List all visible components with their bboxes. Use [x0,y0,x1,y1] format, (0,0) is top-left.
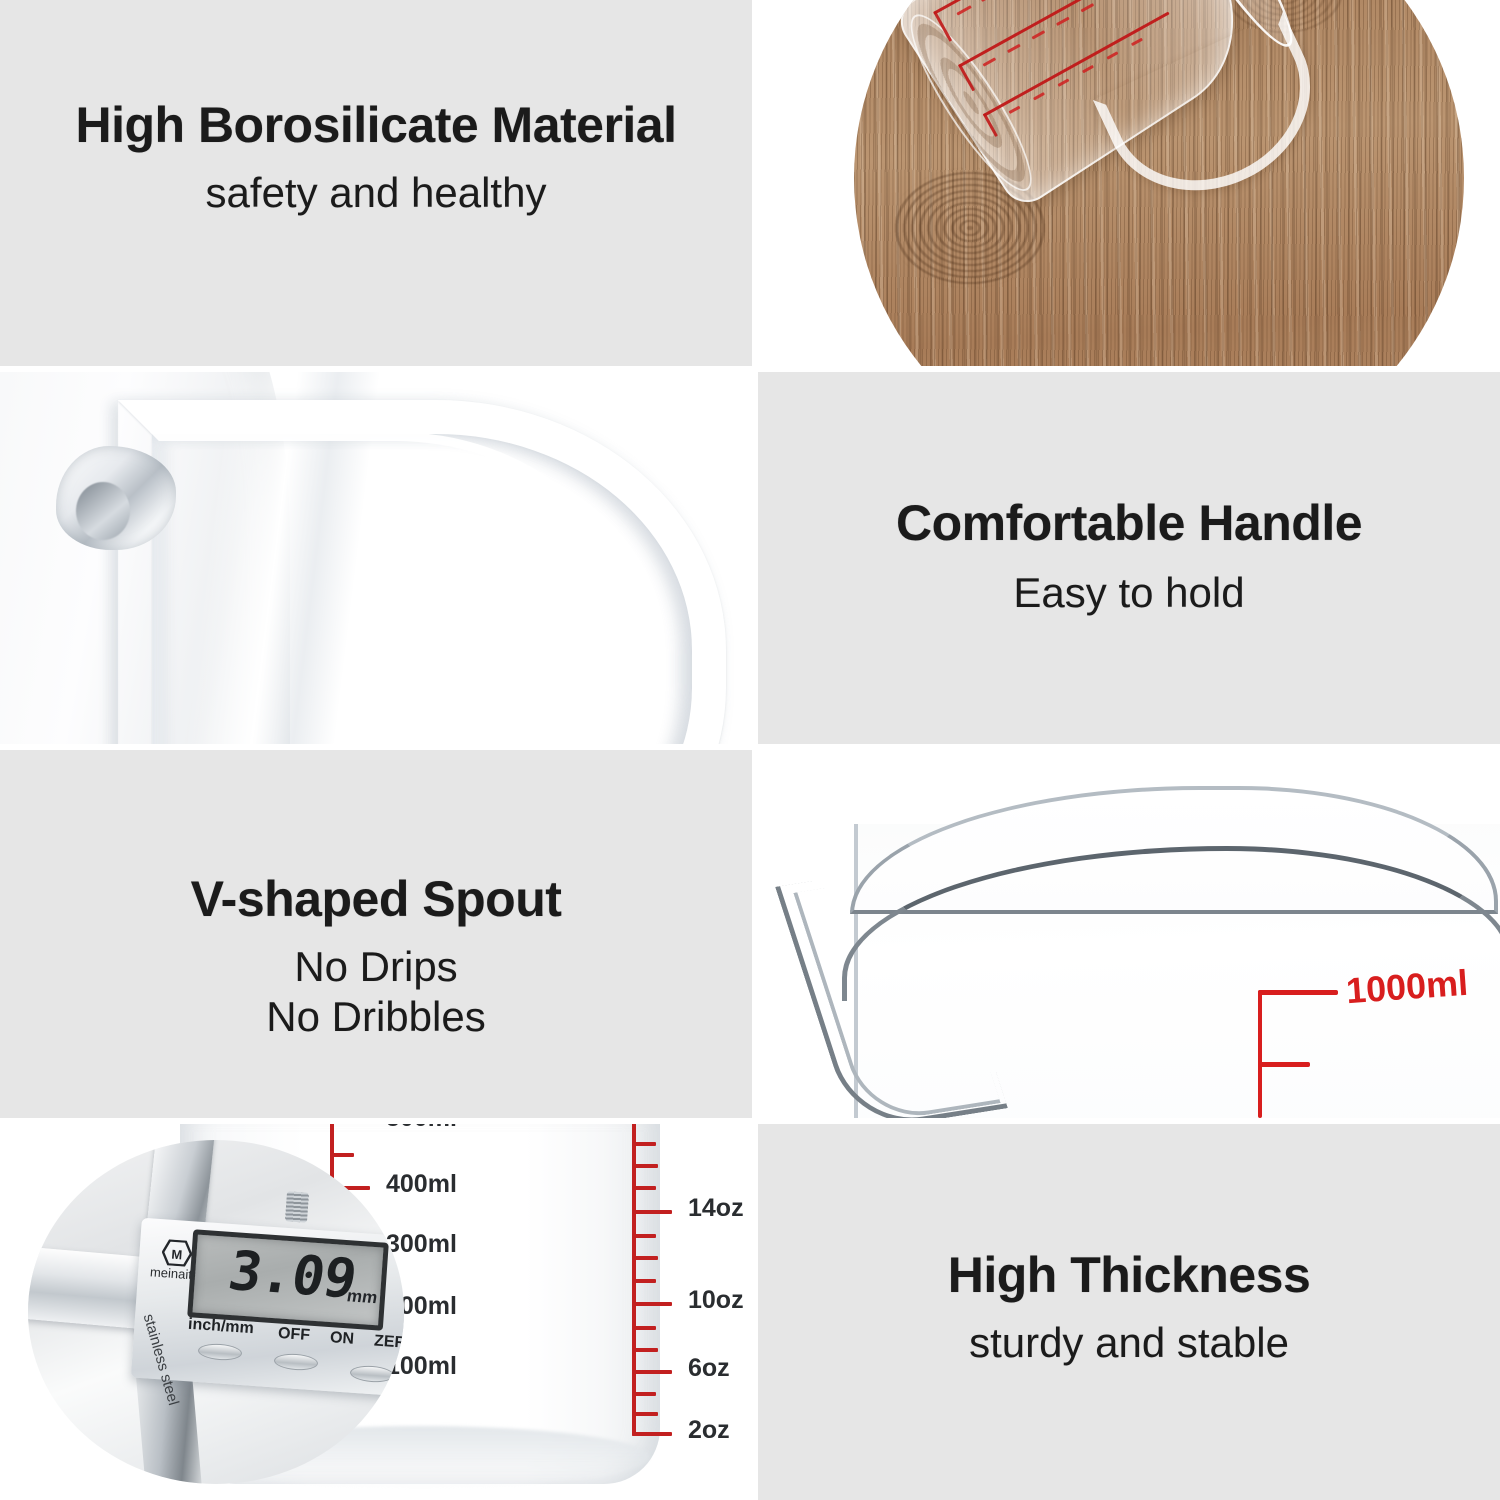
feature-subtitle-borosilicate: safety and healthy [0,172,752,214]
v-spout-closeup-photo: 1000ml [758,750,1500,1118]
feature-panel-borosilicate: High Borosilicate Material safety and he… [0,0,752,366]
caliper-reading-unit: mm [345,1286,379,1308]
oz-label-16: 16oz [688,1124,744,1127]
feature-subtitle-thickness: sturdy and stable [758,1322,1500,1364]
oz-label-14: 14oz [688,1194,744,1223]
feature-headline-borosilicate: High Borosilicate Material [0,100,752,150]
glass-cup-on-wood-photo [854,0,1464,366]
photo-panel-spout-closeup: 1000ml [758,750,1500,1118]
caliper-reading-value: 3.09 [224,1239,361,1310]
glass-handle-closeup-photo [0,372,752,744]
feature-headline-thickness: High Thickness [758,1250,1500,1300]
photo-panel-glass-cup-on-wood [758,0,1500,366]
oz-label-10: 10oz [688,1286,744,1315]
ml-label-500: 500ml [386,1124,457,1133]
oz-label-2: 2oz [688,1416,730,1445]
graduation-tick-major [1258,990,1338,995]
digital-caliper-photo: M meinaite stainless steel 3.09 mm inch/… [28,1140,404,1484]
feature-panel-handle: Comfortable Handle Easy to hold [758,372,1500,744]
graduation-label-1000ml: 1000ml [1345,962,1470,1012]
feature-subtitle-spout-2: No Dribbles [0,996,752,1038]
caliper-button-label-zero: ZERO [373,1332,404,1353]
handle-joint-shadow [76,482,130,540]
photo-panel-thickness-measure: 500ml 400ml 300ml 200ml 100ml [0,1124,752,1500]
graduation-tick-minor [1258,1062,1310,1067]
caliper-button-label-off: OFF [277,1325,310,1345]
caliper-brand-logo-icon: M [161,1239,193,1267]
ml-label-400: 400ml [386,1170,457,1199]
caliper-lcd-screen: 3.09 mm [187,1229,389,1330]
feature-subtitle-spout-1: No Drips [0,946,752,988]
svg-text:M: M [171,1247,183,1263]
feature-headline-spout: V-shaped Spout [0,874,752,924]
caliper-thumb-screw [285,1191,309,1222]
feature-headline-handle: Comfortable Handle [758,498,1500,548]
feature-subtitle-handle: Easy to hold [758,572,1500,614]
feature-panel-thickness: High Thickness sturdy and stable [758,1124,1500,1500]
oz-label-6: 6oz [688,1354,730,1383]
photo-panel-handle-closeup [0,372,752,744]
graduation-rail [1258,990,1262,1118]
caliper-button-label-on: ON [329,1329,354,1349]
infographic-sheet: High Borosilicate Material safety and he… [0,0,1500,1500]
feature-panel-spout: V-shaped Spout No Drips No Dribbles [0,750,752,1118]
